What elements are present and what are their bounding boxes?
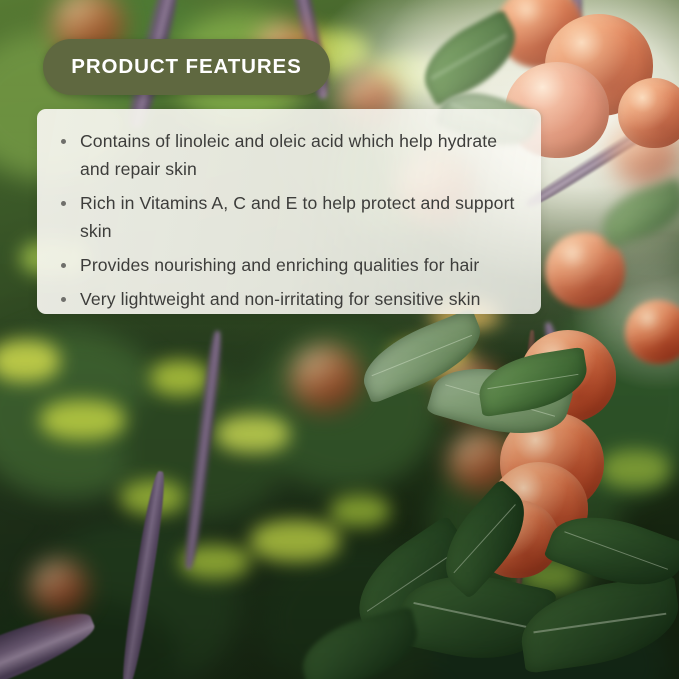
product-features-card: Contains of linoleic and oleic acid whic… <box>37 109 541 314</box>
feature-list: Contains of linoleic and oleic acid whic… <box>37 109 541 313</box>
bullet-icon <box>61 139 66 144</box>
badge-label: PRODUCT FEATURES <box>71 55 301 79</box>
apricot-tree-photo <box>0 0 679 679</box>
feature-text: Contains of linoleic and oleic acid whic… <box>80 131 497 179</box>
product-features-image: Contains of linoleic and oleic acid whic… <box>0 0 679 679</box>
vignette-grade <box>0 0 679 679</box>
list-item: Very lightweight and non-irritating for … <box>61 285 525 313</box>
feature-text: Provides nourishing and enriching qualit… <box>80 255 479 275</box>
bullet-icon <box>61 297 66 302</box>
feature-text: Very lightweight and non-irritating for … <box>80 289 480 309</box>
list-item: Provides nourishing and enriching qualit… <box>61 251 525 279</box>
list-item: Contains of linoleic and oleic acid whic… <box>61 127 525 183</box>
list-item: Rich in Vitamins A, C and E to help prot… <box>61 189 525 245</box>
bullet-icon <box>61 263 66 268</box>
feature-text: Rich in Vitamins A, C and E to help prot… <box>80 193 515 241</box>
bullet-icon <box>61 201 66 206</box>
product-features-badge: PRODUCT FEATURES <box>43 39 330 95</box>
